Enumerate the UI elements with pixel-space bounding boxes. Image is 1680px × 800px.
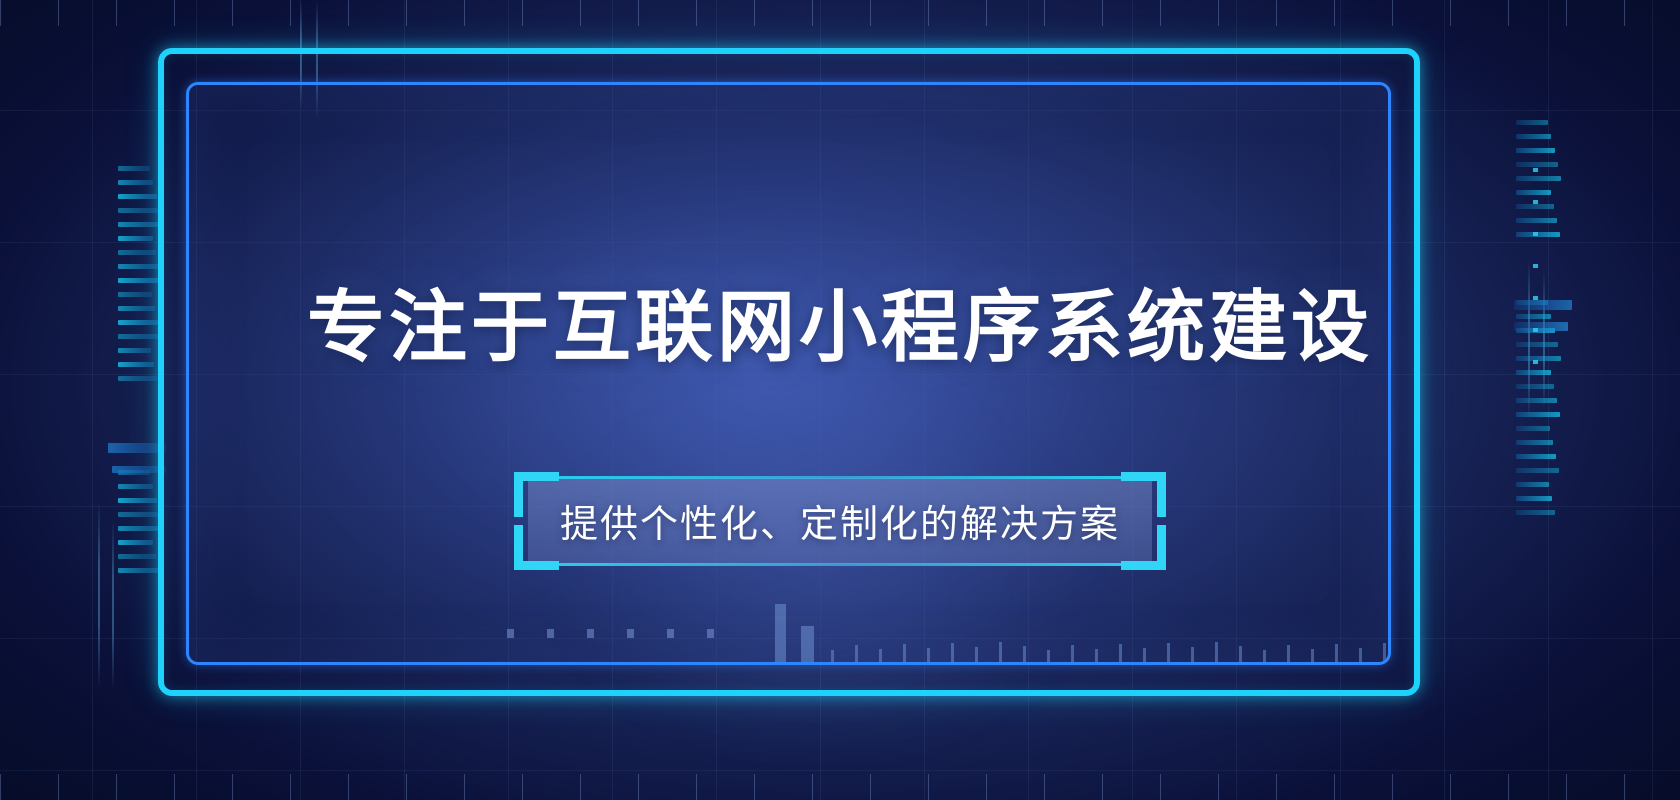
chart-tick	[1119, 644, 1122, 662]
chart-tick	[1023, 646, 1026, 662]
chart-tick	[1239, 646, 1242, 662]
hero-banner: 专注于互联网小程序系统建设 提供个性化、定制化的解决方案	[0, 0, 1680, 800]
ladder-rung	[118, 526, 163, 531]
ladder-rung	[118, 250, 156, 255]
chart-tick	[1359, 648, 1362, 662]
ladder-rung	[118, 194, 157, 199]
ladder-rung	[1516, 148, 1555, 153]
tick-row-top-icon	[0, 0, 1680, 26]
chart-tick	[975, 647, 978, 662]
chart-tick	[1311, 649, 1314, 662]
chart-tick	[951, 643, 954, 662]
chart-square	[667, 629, 674, 638]
ladder-rung	[118, 376, 157, 381]
chart-square	[507, 629, 514, 638]
ladder-rung	[1516, 426, 1550, 431]
ladder-rung	[118, 264, 159, 269]
chart-square	[547, 629, 554, 638]
ladder-rung	[118, 554, 156, 559]
ladder-rung	[1516, 510, 1555, 515]
ladder-rung	[1516, 440, 1553, 445]
micro-chart-strip	[479, 582, 1259, 662]
chart-tick	[879, 649, 882, 662]
ladder-rung	[118, 222, 163, 227]
chart-bar	[775, 604, 786, 662]
ladder-rung	[118, 278, 162, 283]
page-subtitle: 提供个性化、定制化的解决方案	[514, 466, 1166, 574]
chart-tick	[831, 650, 834, 662]
ladder-rung	[1516, 412, 1560, 417]
chart-tick	[1047, 650, 1050, 662]
hairline-left-2	[112, 520, 114, 690]
ladder-rung	[118, 166, 150, 171]
ladder-rung	[1516, 398, 1557, 403]
ladder-rung	[1516, 120, 1548, 125]
chart-tick	[1215, 642, 1218, 662]
ladder-rung	[1516, 232, 1560, 237]
ladder-rung	[118, 180, 153, 185]
chart-tick	[1167, 643, 1170, 662]
ladder-rung	[1516, 162, 1558, 167]
subtitle-box: 提供个性化、定制化的解决方案	[514, 466, 1166, 574]
chart-square	[707, 629, 714, 638]
page-title: 专注于互联网小程序系统建设	[0, 288, 1680, 366]
chart-tick	[855, 645, 858, 662]
ladder-rung	[1516, 384, 1554, 389]
ladder-rung	[1516, 134, 1551, 139]
chart-tick	[1071, 645, 1074, 662]
ladder-rung	[1516, 482, 1549, 487]
tick-row-bottom-icon	[0, 774, 1680, 800]
chart-tick	[1335, 644, 1338, 662]
ladder-rung	[1516, 454, 1556, 459]
chart-tick	[903, 644, 906, 662]
ladder-rung	[118, 484, 153, 489]
ladder-rung	[118, 512, 160, 517]
chart-square	[587, 629, 594, 638]
ladder-rung	[118, 568, 159, 573]
chart-tick	[927, 648, 930, 662]
chart-bar	[801, 626, 814, 662]
chart-tick	[1191, 647, 1194, 662]
ladder-rung	[118, 236, 153, 241]
ladder-rung	[118, 208, 160, 213]
ladder-rung	[1516, 176, 1561, 181]
inner-panel	[186, 82, 1391, 665]
chart-tick	[1383, 643, 1386, 662]
chart-tick	[1143, 648, 1146, 662]
chart-square	[627, 629, 634, 638]
ladder-rung	[1516, 468, 1559, 473]
ladder-rung	[118, 498, 157, 503]
ladder-right-upper-icon	[1516, 120, 1562, 237]
ladder-rung	[1516, 496, 1552, 501]
chart-tick	[1095, 649, 1098, 662]
chart-tick	[1263, 650, 1266, 662]
ladder-rung	[118, 540, 153, 545]
chart-tick	[1287, 645, 1290, 662]
chart-tick	[999, 642, 1002, 662]
hairline-left-1	[98, 500, 100, 690]
